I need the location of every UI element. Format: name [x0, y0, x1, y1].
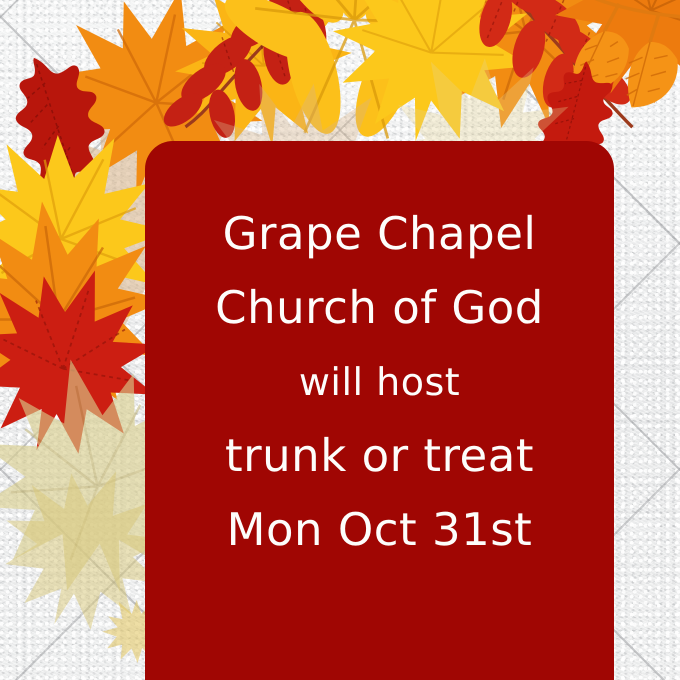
- announcement-line-4: trunk or treat: [145, 419, 614, 493]
- announcement-text-block: Grape Chapel Church of God will host tru…: [145, 197, 614, 567]
- announcement-line-5: Mon Oct 31st: [145, 493, 614, 567]
- announcement-card: Grape Chapel Church of God will host tru…: [145, 141, 614, 680]
- announcement-line-1: Grape Chapel: [145, 197, 614, 271]
- announcement-line-3: will host: [145, 345, 614, 419]
- announcement-line-2: Church of God: [145, 271, 614, 345]
- poster-canvas: Grape Chapel Church of God will host tru…: [0, 0, 680, 680]
